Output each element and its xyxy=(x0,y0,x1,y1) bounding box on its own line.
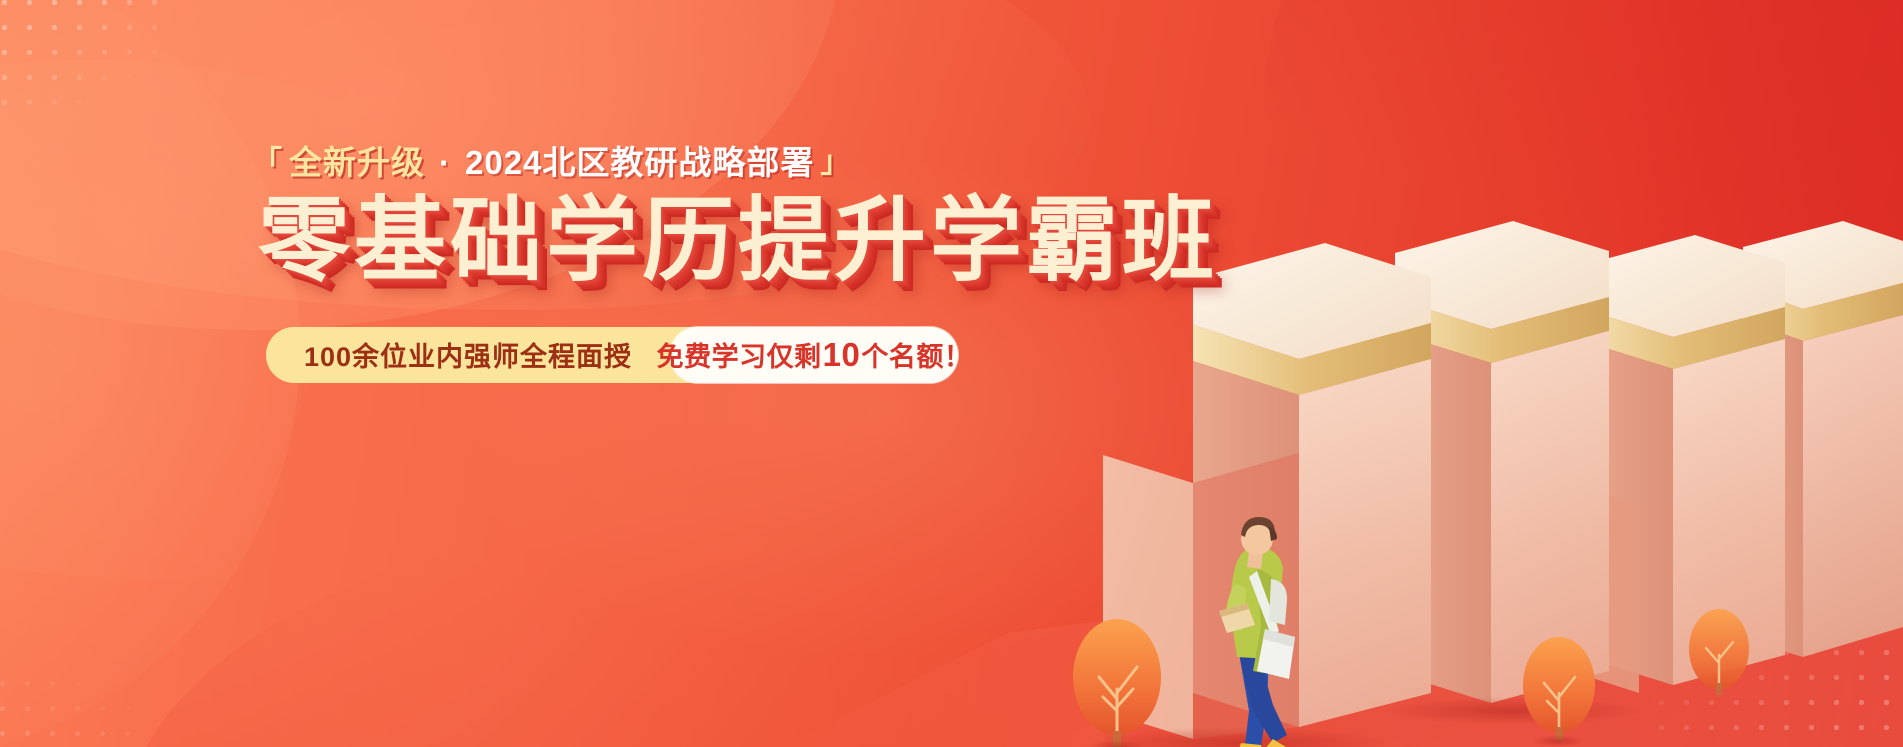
subtitle-separator: · xyxy=(425,146,465,179)
book-arch-3 xyxy=(1583,235,1785,693)
tree-front xyxy=(1073,619,1161,747)
dot-grid-top-left xyxy=(0,0,177,110)
seats-prefix: 免费学习仅剩 xyxy=(657,335,822,374)
banner-subtitle: 「 全新升级 · 2024北区教研战略部署 」 xyxy=(252,146,1032,179)
seats-suffix: 个名额！ xyxy=(861,335,971,374)
banner-copy: 「 全新升级 · 2024北区教研战略部署 」 零基础学历提升学霸班 100余位… xyxy=(252,146,1032,383)
instructors-badge: 100余位业内强师全程面授 xyxy=(266,327,670,383)
promo-banner: 「 全新升级 · 2024北区教研战略部署 」 零基础学历提升学霸班 100余位… xyxy=(0,0,1903,747)
bracket-close-icon: 」 xyxy=(820,148,851,178)
tree-right xyxy=(1523,637,1595,747)
bracket-open-icon: 「 xyxy=(252,148,283,178)
feature-pill-group: 100余位业内强师全程面授 免费学习仅剩10个名额！ xyxy=(266,327,958,383)
dot-grid-bottom-left xyxy=(0,671,140,747)
seats-count: 10 xyxy=(822,336,862,374)
page-title: 零基础学历提升学霸班 xyxy=(258,193,1032,291)
subtitle-main: 2024北区教研战略部署 xyxy=(465,146,814,179)
subtitle-highlight: 全新升级 xyxy=(289,146,425,179)
seats-remaining-badge[interactable]: 免费学习仅剩10个名额！ xyxy=(670,327,958,383)
tree-far-right xyxy=(1689,609,1749,695)
